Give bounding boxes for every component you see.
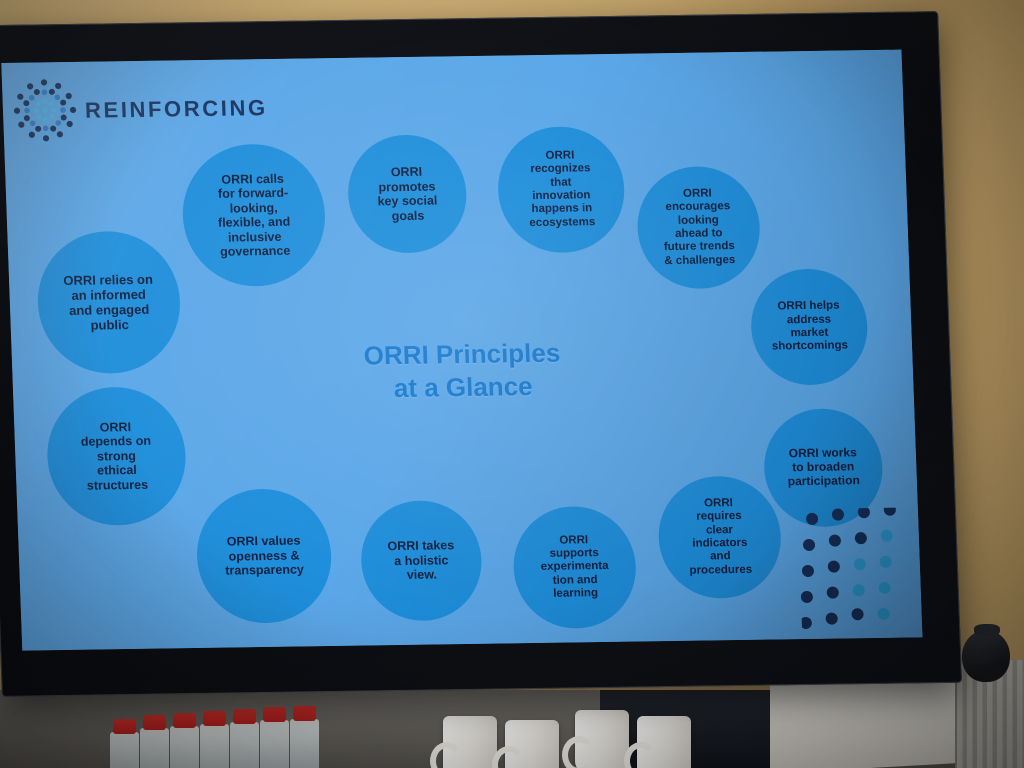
water-bottle	[290, 719, 319, 768]
water-bottle	[230, 722, 259, 768]
wall-mounted-tv: REINFORCING ORRI Principles at a Glance …	[0, 11, 962, 697]
bubble-market-shortcomings[interactable]: ORRI helps address market shortcomings	[749, 268, 869, 386]
bubble-clear-indicators[interactable]: ORRI requires clear indicators and proce…	[657, 475, 783, 599]
coffee-mug	[575, 710, 629, 768]
bubble-ethical-structures[interactable]: ORRI depends on strong ethical structure…	[45, 386, 188, 526]
bubble-future-trends[interactable]: ORRI encourages looking ahead to future …	[635, 166, 761, 290]
bubble-openness[interactable]: ORRI values openness & transparency	[195, 488, 334, 624]
dotted-circle-logo-icon	[12, 78, 78, 143]
bubble-social-goals[interactable]: ORRI promotes key social goals	[346, 134, 468, 254]
mug-handle	[624, 742, 658, 768]
water-bottle	[200, 724, 229, 768]
bubble-experimentation[interactable]: ORRI supports experimenta tion and learn…	[512, 506, 638, 630]
water-bottle	[260, 720, 289, 768]
bottle-cap	[113, 719, 136, 734]
bubble-ecosystems[interactable]: ORRI recognizes that innovation happens …	[496, 126, 627, 254]
water-bottle	[140, 728, 169, 768]
tv-screen: REINFORCING ORRI Principles at a Glance …	[1, 50, 922, 651]
presentation-slide: REINFORCING ORRI Principles at a Glance …	[1, 50, 922, 651]
water-bottle	[170, 726, 199, 768]
bottle-cap	[203, 711, 226, 726]
bottle-cap	[143, 715, 166, 730]
bottle-cap	[233, 709, 256, 724]
brand-name: REINFORCING	[85, 95, 269, 124]
bubble-governance[interactable]: ORRI calls for forward- looking, flexibl…	[180, 143, 327, 287]
coffee-mug	[505, 720, 559, 768]
slide-title: ORRI Principles at a Glance	[363, 337, 562, 406]
bubble-informed-public[interactable]: ORRI relies on an informed and engaged p…	[35, 230, 182, 374]
bottle-cap	[293, 706, 316, 721]
coffee-mug	[637, 716, 691, 768]
room-photo-scene: REINFORCING ORRI Principles at a Glance …	[0, 0, 1024, 768]
water-bottle	[110, 732, 139, 768]
coffee-mug	[443, 716, 497, 768]
bottle-cap	[173, 713, 196, 728]
kettle-lid	[974, 624, 1000, 636]
electric-kettle	[962, 630, 1010, 682]
brand-logo: REINFORCING	[12, 76, 234, 145]
bottle-cap	[263, 707, 286, 722]
mug-handle	[430, 742, 464, 768]
mug-handle	[562, 736, 596, 768]
bubble-holistic-view[interactable]: ORRI takes a holistic view.	[359, 500, 483, 622]
dot-grid-decoration-icon	[798, 507, 923, 639]
